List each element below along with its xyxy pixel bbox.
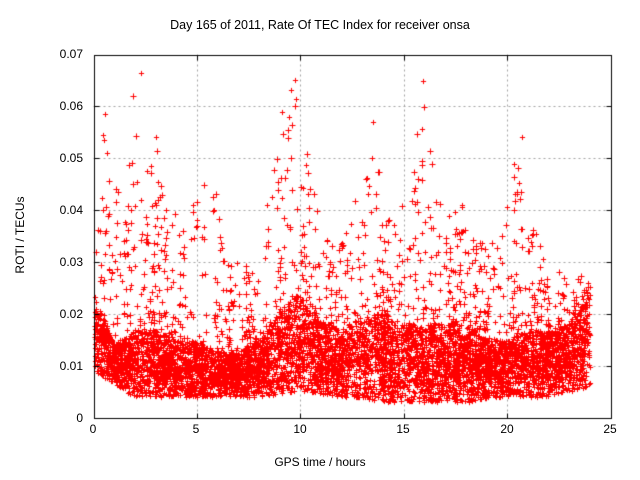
x-tick-label-1: 5 (176, 422, 216, 436)
scatter-canvas (0, 0, 640, 480)
y-tick-label-3: 0.03 (23, 255, 83, 269)
y-tick-label-7: 0.07 (23, 47, 83, 61)
y-tick-label-5: 0.05 (23, 151, 83, 165)
y-tick-label-1: 0.01 (23, 359, 83, 373)
y-tick-label-4: 0.04 (23, 203, 83, 217)
x-axis-title: GPS time / hours (0, 455, 640, 469)
x-tick-label-0: 0 (73, 422, 113, 436)
roti-scatter-plot: Day 165 of 2011, Rate Of TEC Index for r… (0, 0, 640, 480)
y-axis-title: ROTI / TECUs (13, 155, 27, 315)
x-tick-label-4: 20 (487, 422, 527, 436)
x-tick-label-2: 10 (280, 422, 320, 436)
y-tick-label-6: 0.06 (23, 99, 83, 113)
y-tick-label-2: 0.02 (23, 307, 83, 321)
x-tick-label-5: 25 (590, 422, 630, 436)
x-tick-label-3: 15 (383, 422, 423, 436)
